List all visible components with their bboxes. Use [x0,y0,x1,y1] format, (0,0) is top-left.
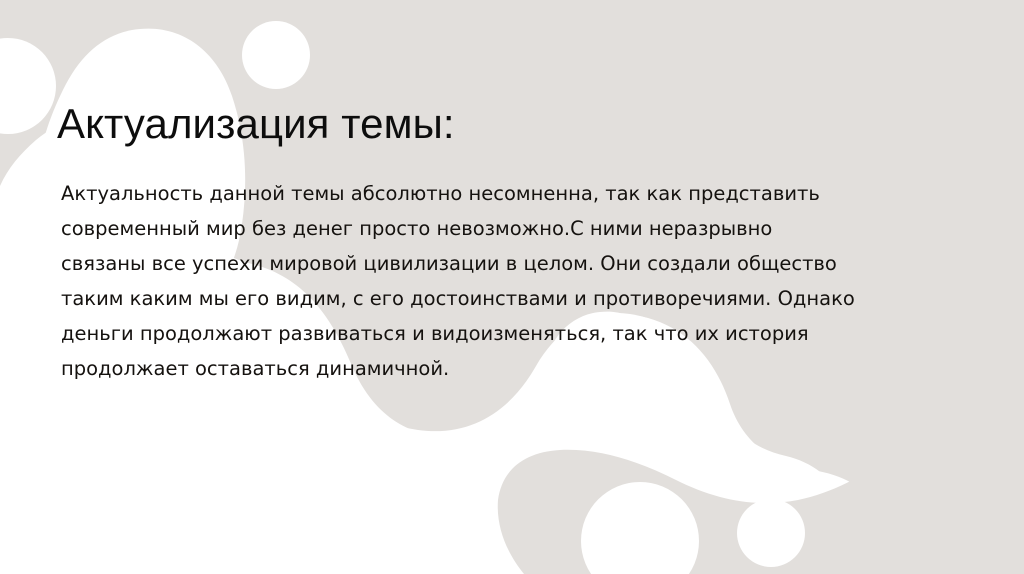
body-paragraph: Актуальность данной темы абсолютно несом… [61,176,936,386]
body-text-line: Актуальность данной темы абсолютно несом… [61,176,936,211]
body-text-line: продолжает оставаться динамичной. [61,351,936,386]
page-title: Актуализация темы: [57,100,957,147]
body-text-line: связаны все успехи мировой цивилизации в… [61,246,936,281]
body-text-line: деньги продолжают развиваться и видоизме… [61,316,936,351]
slide-canvas: Актуализация темы: Актуальность данной т… [0,0,1024,574]
slide-content: Актуализация темы: Актуальность данной т… [0,0,1024,574]
body-text-line: таким каким мы его видим, с его достоинс… [61,281,936,316]
body-text-line: современный мир без денег просто невозмо… [61,211,936,246]
